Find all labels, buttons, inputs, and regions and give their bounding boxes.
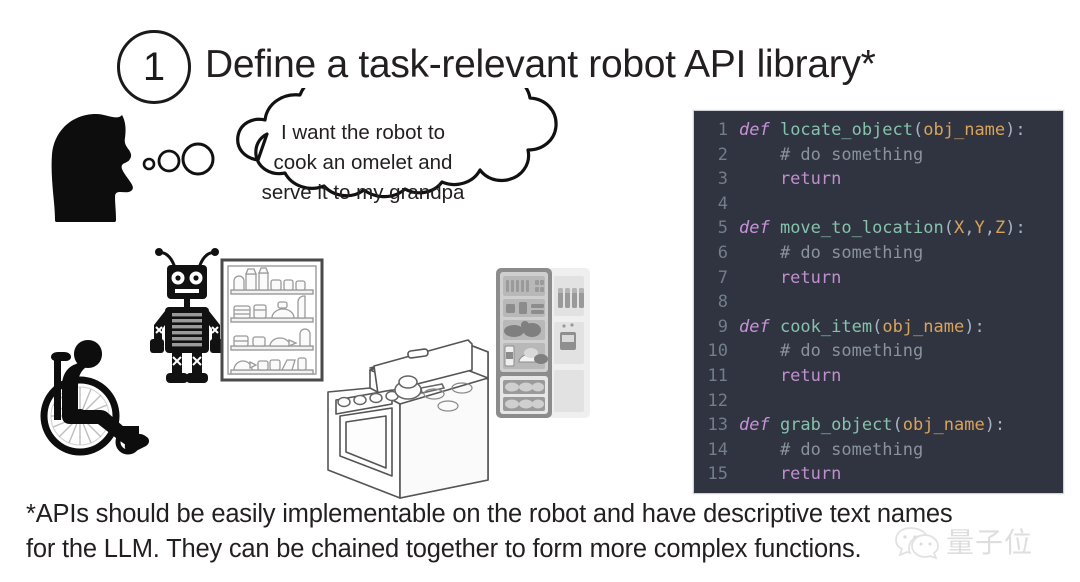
code-token: def [739, 317, 780, 337]
code-token: # do something [739, 243, 923, 263]
code-token: # do something [739, 145, 923, 165]
code-line-row: 6 # do something [694, 241, 1063, 266]
code-line-row: 13def grab_object(obj_name): [694, 413, 1063, 438]
code-token: obj_name [882, 317, 964, 337]
code-token: locate_object [780, 120, 913, 140]
code-line-text: def locate_object(obj_name): [737, 118, 1063, 143]
code-token: ): [1005, 120, 1025, 140]
code-line-text: def grab_object(obj_name): [737, 413, 1063, 438]
open-refrigerator-drawing [492, 266, 590, 422]
line-number: 8 [694, 290, 737, 315]
line-number: 14 [694, 438, 737, 463]
code-token: , [964, 218, 974, 238]
code-line-text: return [737, 364, 1063, 389]
code-token: ): [1005, 218, 1025, 238]
code-token: def [739, 120, 780, 140]
step-number-badge: 1 [117, 30, 191, 104]
code-token: Y [974, 218, 984, 238]
person-head-silhouette-icon [44, 112, 149, 224]
code-line-text: return [737, 462, 1063, 487]
code-token: ): [985, 415, 1005, 435]
code-line-row: 1def locate_object(obj_name): [694, 118, 1063, 143]
line-number: 4 [694, 192, 737, 217]
line-number: 13 [694, 413, 737, 438]
code-token: obj_name [923, 120, 1005, 140]
pantry-cupboard-drawing [220, 258, 324, 382]
code-rows: 1def locate_object(obj_name):2 # do some… [694, 111, 1063, 487]
code-line-row: 8 [694, 290, 1063, 315]
thought-line-3: serve it to my grandpa [228, 178, 498, 208]
footnote-line-1: *APIs should be easily implementable on … [26, 497, 1056, 532]
code-line-text: # do something [737, 241, 1063, 266]
line-number: 9 [694, 315, 737, 340]
code-token: move_to_location [780, 218, 944, 238]
thought-line-2: cook an omelet and [228, 148, 498, 178]
code-token: ( [944, 218, 954, 238]
code-token: X [954, 218, 964, 238]
code-token: return [739, 366, 841, 386]
line-number: 2 [694, 143, 737, 168]
person-in-wheelchair-silhouette-icon [36, 316, 160, 456]
line-number: 15 [694, 462, 737, 487]
robot-silhouette-icon [148, 247, 226, 387]
code-token: return [739, 169, 841, 189]
code-line-row: 10 # do something [694, 339, 1063, 364]
code-line-text: # do something [737, 438, 1063, 463]
code-line-row: 7 return [694, 266, 1063, 291]
line-number: 6 [694, 241, 737, 266]
code-token: cook_item [780, 317, 872, 337]
code-token: Z [995, 218, 1005, 238]
code-token: def [739, 218, 780, 238]
code-token: return [739, 268, 841, 288]
code-panel[interactable]: 1def locate_object(obj_name):2 # do some… [693, 110, 1064, 494]
thought-line-1: I want the robot to [228, 118, 498, 148]
code-line-row: 2 # do something [694, 143, 1063, 168]
footnote-line-2: for the LLM. They can be chained togethe… [26, 532, 1056, 567]
code-token: def [739, 415, 780, 435]
code-line-row: 12 [694, 389, 1063, 414]
code-line-row: 11 return [694, 364, 1063, 389]
code-line-text: # do something [737, 339, 1063, 364]
code-line-text: # do something [737, 143, 1063, 168]
line-number: 12 [694, 389, 737, 414]
code-token: , [985, 218, 995, 238]
stove-oven-drawing [322, 330, 494, 500]
line-number: 10 [694, 339, 737, 364]
code-line-row: 3 return [694, 167, 1063, 192]
code-line-text: def cook_item(obj_name): [737, 315, 1063, 340]
line-number: 3 [694, 167, 737, 192]
code-line-text: def move_to_location(X,Y,Z): [737, 216, 1063, 241]
code-token: # do something [739, 341, 923, 361]
code-token: ( [893, 415, 903, 435]
code-token: obj_name [903, 415, 985, 435]
code-token: ): [964, 317, 984, 337]
code-token: # do something [739, 440, 923, 460]
line-number: 11 [694, 364, 737, 389]
code-line-text: return [737, 167, 1063, 192]
code-line-row: 15 return [694, 462, 1063, 487]
code-token: ( [913, 120, 923, 140]
code-line-row: 9def cook_item(obj_name): [694, 315, 1063, 340]
thought-bubble-text: I want the robot to cook an omelet and s… [228, 118, 498, 208]
footnote: *APIs should be easily implementable on … [26, 497, 1056, 567]
line-number: 5 [694, 216, 737, 241]
code-line-row: 5def move_to_location(X,Y,Z): [694, 216, 1063, 241]
code-token: ( [872, 317, 882, 337]
code-line-row: 4 [694, 192, 1063, 217]
line-number: 1 [694, 118, 737, 143]
code-token: return [739, 464, 841, 484]
slide-canvas: 1 Define a task-relevant robot API libra… [0, 0, 1080, 582]
code-line-text: return [737, 266, 1063, 291]
line-number: 7 [694, 266, 737, 291]
code-token: grab_object [780, 415, 893, 435]
code-line-row: 14 # do something [694, 438, 1063, 463]
